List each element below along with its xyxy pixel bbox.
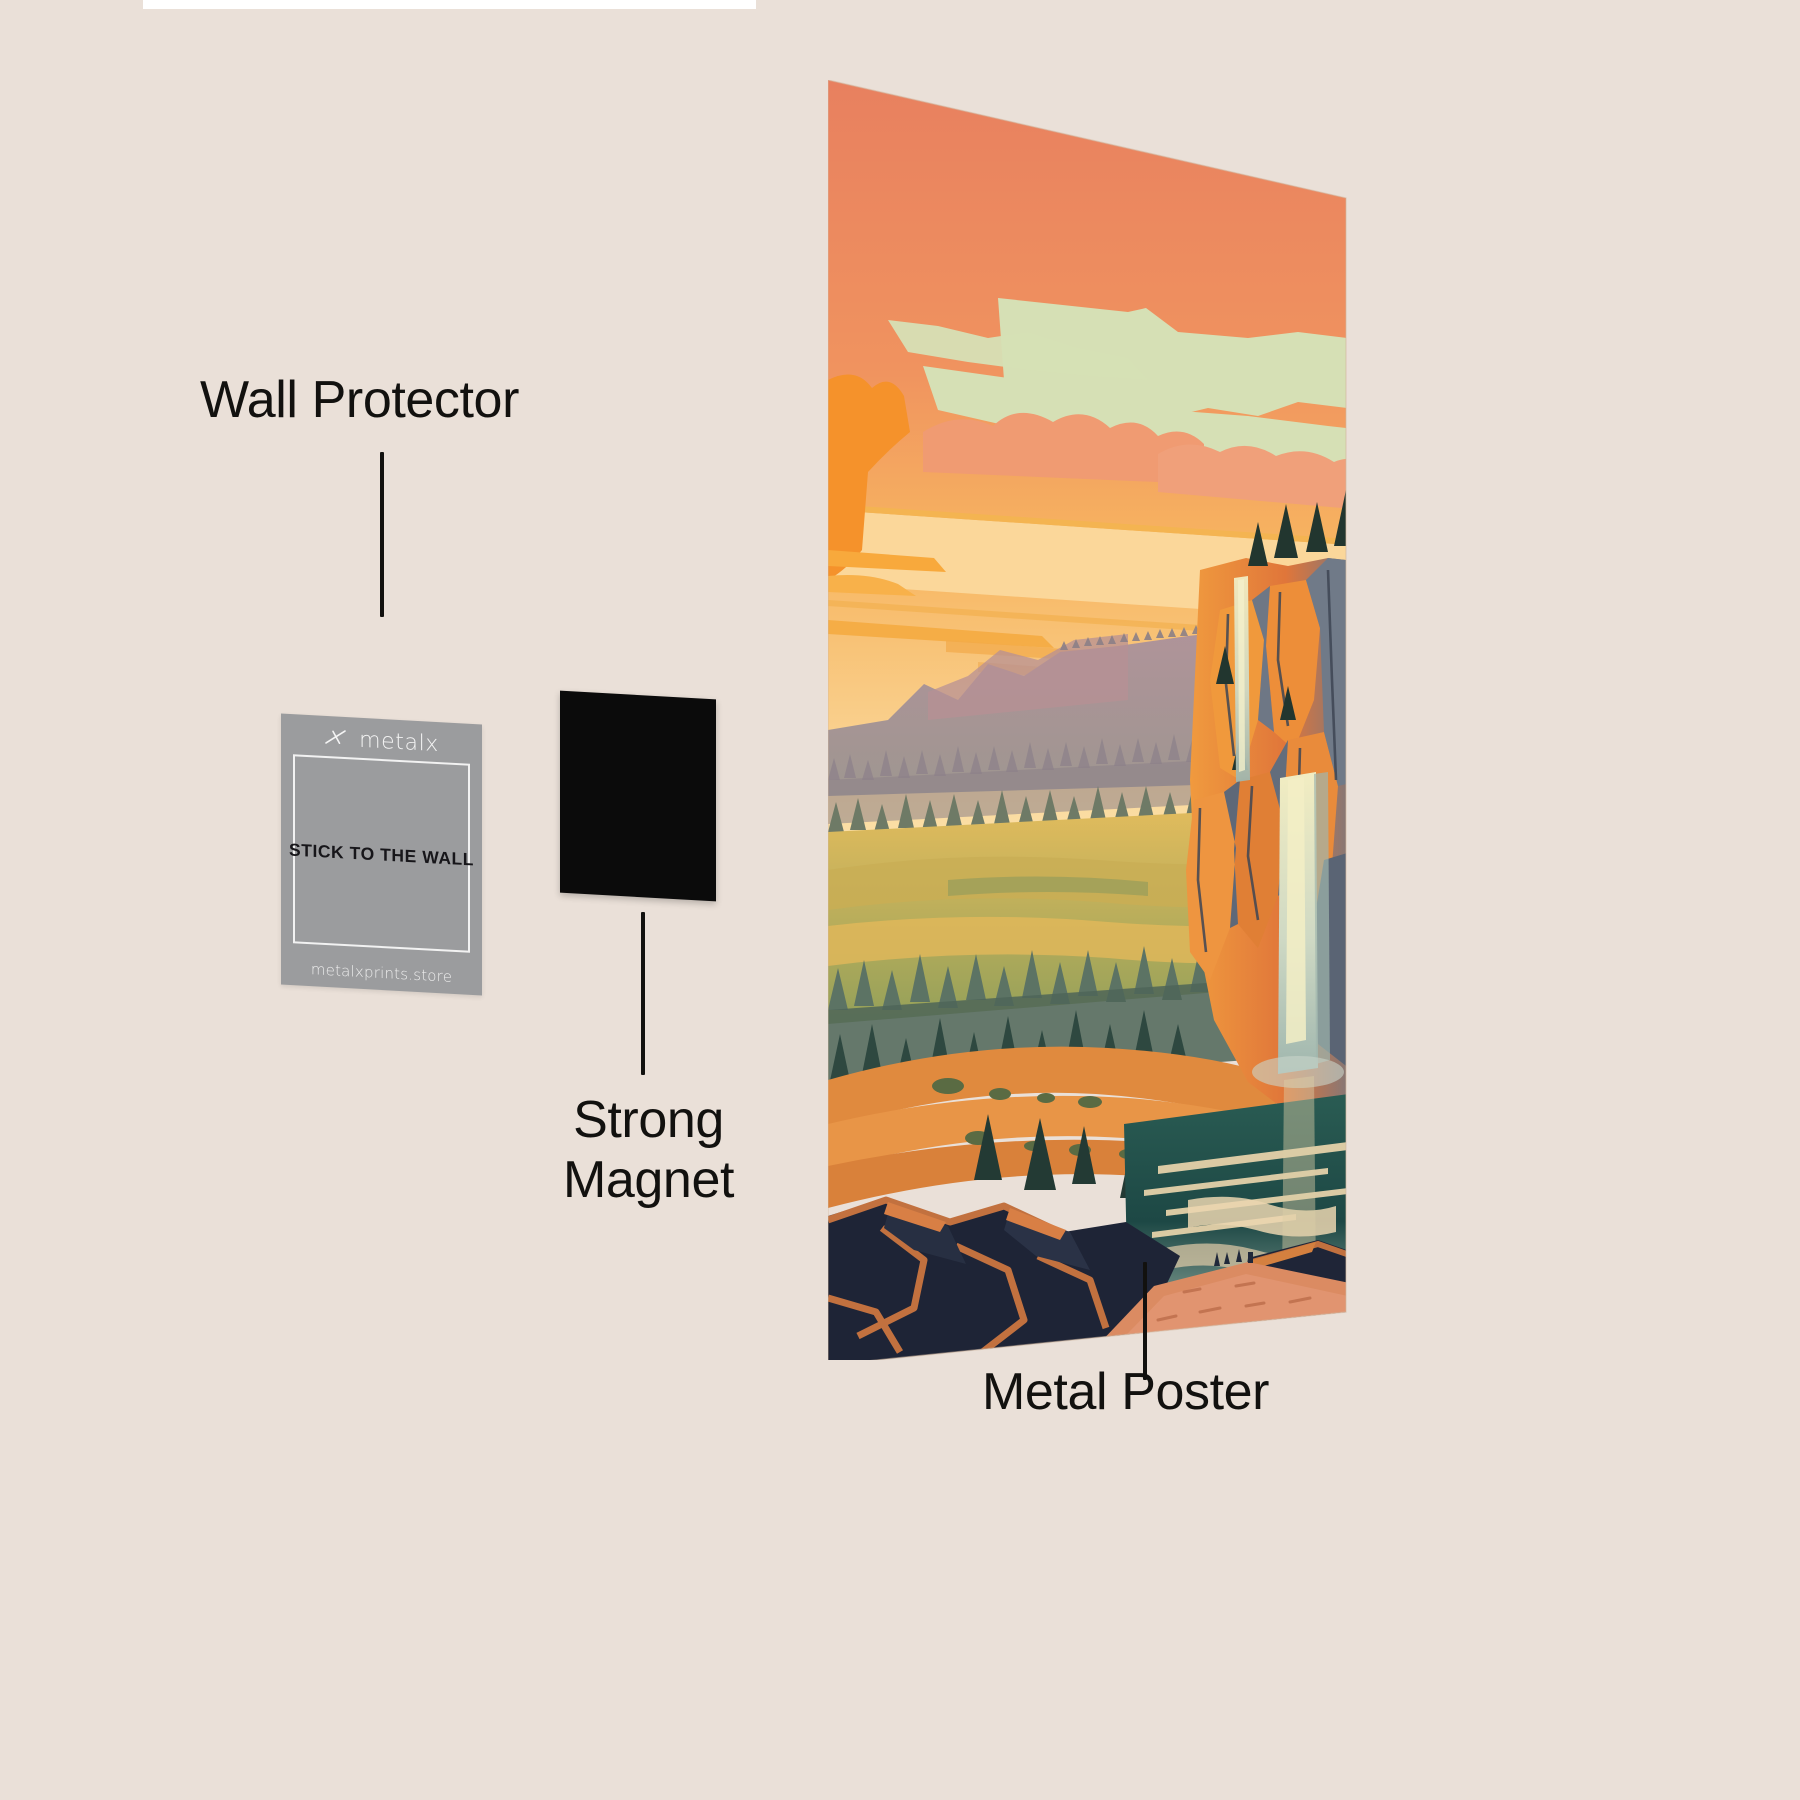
leader-line-wall-protector [380,452,384,617]
leader-line-strong-magnet [641,912,645,1075]
callout-label-wall-protector: Wall Protector [200,370,519,430]
infographic-canvas: Wall Protector metalx STICK TO THE WALL … [0,0,1800,1800]
callout-label-metal-poster: Metal Poster [982,1362,1269,1422]
top-white-strip [143,0,756,9]
poster-illustration [828,80,1364,1360]
metalx-cross-mark-icon [324,727,350,750]
store-url-text: metalxprints.store [281,959,482,988]
wall-protector-card[interactable]: metalx STICK TO THE WALL metalxprints.st… [281,714,482,996]
brand-name: metalx [359,727,439,756]
callout-label-strong-magnet: Strong Magnet [551,1090,746,1211]
strong-magnet-square[interactable] [560,691,716,902]
metal-poster-artwork[interactable] [828,80,1364,1360]
